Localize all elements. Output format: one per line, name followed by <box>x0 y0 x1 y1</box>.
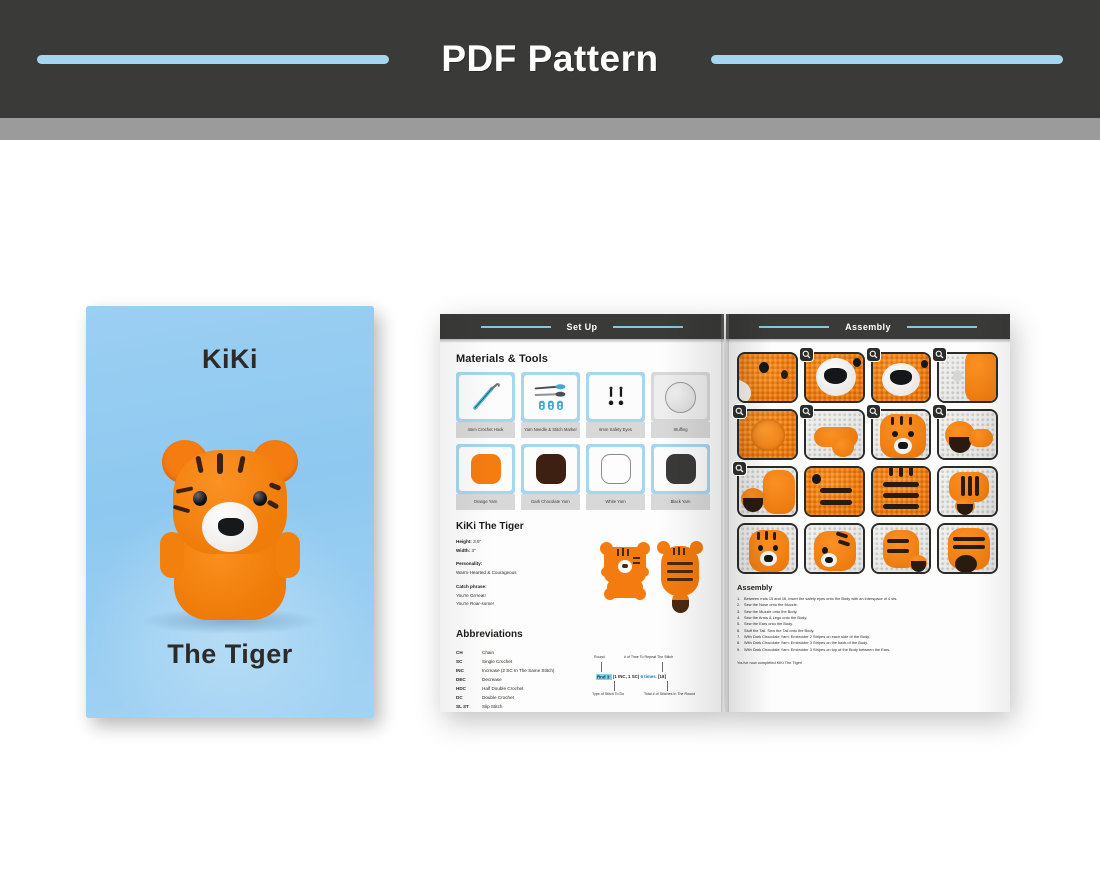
cover-subtitle: The Tiger <box>86 639 374 670</box>
right-header-rule-left <box>759 326 829 328</box>
plush-nose <box>218 518 244 536</box>
left-page-body: Materials & Tools 4mm Crochet Hook <box>440 343 724 712</box>
material-label: White Yarn <box>586 494 645 510</box>
assembly-photo-ear-detail[interactable] <box>937 352 998 403</box>
cover-book[interactable]: KiKi The Tiger <box>86 306 374 718</box>
banner-rule-right <box>711 55 1063 64</box>
magnifier-icon <box>869 350 878 359</box>
photo-stripe-blob <box>891 417 894 425</box>
abbreviations-section: CHChain SCSingle Crochet INCIncrease (2 … <box>456 649 710 712</box>
photo-eye-blob <box>812 474 821 484</box>
right-page-header: Assembly <box>726 314 1010 339</box>
material-frame <box>456 372 515 422</box>
magnifier-icon <box>802 407 811 416</box>
photo-image <box>939 468 996 515</box>
abbr-value: Slip Stitch <box>482 703 502 712</box>
crochet-tiger-plush-photo <box>164 436 296 626</box>
spec-width-value: 3" <box>472 548 476 553</box>
personality-value: Warm-Hearted & Courageous <box>456 569 584 578</box>
material-frame <box>521 444 580 494</box>
tiger-front-illustration <box>600 540 650 606</box>
catchphrase-2: You're Roar-some! <box>456 600 584 609</box>
left-header-rule-right <box>613 326 683 328</box>
photo-stripe-blob <box>883 493 919 498</box>
legend-round-label: Round <box>594 655 605 659</box>
right-page[interactable]: Assembly <box>726 314 1010 712</box>
legend-total-label: Total # of Stitches In The Round <box>644 692 695 696</box>
abbreviation-row: CHChain <box>456 649 584 658</box>
abbr-key: HDC <box>456 685 482 694</box>
materials-grid: 4mm Crochet Hook <box>456 372 710 510</box>
plush-head-stripe-4 <box>269 482 282 491</box>
photo-stripe-blob <box>887 539 909 543</box>
spec-personality: Personality: Warm-Hearted & Courageous <box>456 560 584 577</box>
photo-stripe-blob <box>820 500 852 505</box>
right-page-body: Assembly 1.Between rnds 15 and 16, inser… <box>726 343 1010 665</box>
material-frame <box>586 444 645 494</box>
pattern-spread[interactable]: Set Up Materials & Tools 4mm Crochet H <box>440 314 1010 712</box>
legend-repeat-label: # of Time To Repeat The Stitch <box>624 655 673 659</box>
assembly-photo-finished-front[interactable] <box>737 523 798 574</box>
photo-image <box>939 411 996 458</box>
abbr-value: Decrease <box>482 676 502 685</box>
material-label: Black Yarn <box>651 494 710 510</box>
assembly-step-text: With Dark Chocolate Yarn: Embroider 3 St… <box>744 647 890 653</box>
material-card[interactable]: 4mm Crochet Hook <box>456 372 515 438</box>
plush-head-stripe-2 <box>217 453 223 474</box>
spec-height: Height: 3.5" <box>456 538 584 547</box>
assembly-photo-face-complete[interactable] <box>871 409 932 460</box>
photo-stripe-blob <box>961 476 965 496</box>
material-label: 4mm Crochet Hook <box>456 422 515 438</box>
material-icon-box <box>654 447 707 491</box>
photo-nose-blob <box>890 370 912 385</box>
photo-stripe-blob <box>909 417 912 425</box>
photo-image <box>873 525 930 572</box>
spec-height-value: 3.5" <box>473 539 481 544</box>
assembly-photo-body-eyes[interactable] <box>737 352 798 403</box>
legend-code-example: Rnd 3: (1 INC, 1 SC) 6 times. [18] <box>596 674 666 679</box>
photo-stripe-blob <box>820 488 852 493</box>
abbr-key: SC <box>456 658 482 667</box>
zoom-badge[interactable] <box>732 461 747 476</box>
assembly-photo-tail-piece[interactable] <box>937 409 998 460</box>
material-frame <box>651 372 710 422</box>
assembly-photo-tail-attached[interactable] <box>737 466 798 517</box>
photo-eye-blob <box>758 545 763 551</box>
photo-eye-blob <box>921 360 928 368</box>
material-icon-box <box>589 375 642 419</box>
photo-stripe-blob <box>953 537 985 541</box>
character-specs: Height: 3.5" Width: 3" Personality: Warm… <box>456 538 584 618</box>
cover-title: KiKi <box>86 344 374 375</box>
photo-body-blob <box>763 470 795 514</box>
zoom-badge[interactable] <box>799 404 814 419</box>
book-gutter <box>721 314 729 712</box>
assembly-photo-muzzle-nose-sewn[interactable] <box>871 352 932 403</box>
catchphrase-1: You're Grrreat! <box>456 592 584 601</box>
material-frame <box>456 444 515 494</box>
legend-code-times: 6 times. <box>641 674 657 679</box>
photo-image <box>739 354 796 401</box>
zoom-badge[interactable] <box>932 347 947 362</box>
legend-stitch-type-label: Type of Stitch To Do <box>592 692 624 696</box>
spec-dimensions: Height: 3.5" Width: 3" <box>456 538 584 555</box>
material-label: Orange Yarn <box>456 494 515 510</box>
spec-height-label: Height: <box>456 539 472 544</box>
plush-arm-left <box>160 532 184 578</box>
photo-stripe-blob <box>773 532 776 540</box>
photo-stripe-blob <box>887 549 909 553</box>
assembly-photo-finished-back[interactable] <box>937 523 998 574</box>
abbreviations-list: CHChain SCSingle Crochet INCIncrease (2 … <box>456 649 584 712</box>
photo-image <box>939 525 996 572</box>
legend-code-stitches: (1 INC, 1 SC) <box>613 674 639 679</box>
photo-stripe-blob <box>765 531 768 540</box>
abbr-key: SL ST <box>456 703 482 712</box>
photo-eye-blob <box>908 431 914 437</box>
photo-eye-blob <box>773 545 778 551</box>
yarn-swatch-icon <box>601 454 631 484</box>
assembly-photo-back-stripes[interactable] <box>871 466 932 517</box>
material-label: Stuffing <box>651 422 710 438</box>
abbr-value: Double Crochet <box>482 694 514 703</box>
yarn-swatch-icon <box>666 454 696 484</box>
material-label: Dark Chocolate Yarn <box>521 494 580 510</box>
abbr-value: Single Crochet <box>482 658 512 667</box>
plush-head-stripe-5 <box>267 499 280 509</box>
abbr-value: Half Double Crochet <box>482 685 523 694</box>
character-illustrations <box>592 538 710 618</box>
magnifier-icon <box>935 350 944 359</box>
material-card[interactable]: Dark Chocolate Yarn <box>521 444 580 510</box>
assembly-photo-finished-angle[interactable] <box>804 523 865 574</box>
assembly-step: 9.With Dark Chocolate Yarn: Embroider 3 … <box>737 647 998 653</box>
magnifier-icon <box>802 350 811 359</box>
material-card[interactable]: Orange Yarn <box>456 444 515 510</box>
material-card[interactable]: 6mm Safety Eyes <box>586 372 645 438</box>
left-header-rule-left <box>481 326 551 328</box>
abbr-value: Increase (2 SC In The Same Stitch) <box>482 667 554 676</box>
photo-stripe-blob <box>781 370 788 379</box>
plush-head-stripe-1 <box>195 456 203 474</box>
left-header-title: Set Up <box>567 322 598 332</box>
zoom-badge[interactable] <box>732 404 747 419</box>
magnifier-icon <box>869 407 878 416</box>
assembly-photo-side-stripes[interactable] <box>804 466 865 517</box>
plush-whisker-left-1 <box>176 486 193 493</box>
abbr-key: DEC <box>456 676 482 685</box>
yarn-needle-stitch-marker-icon <box>532 381 569 414</box>
photo-nose-blob <box>825 557 833 563</box>
banner-title: PDF Pattern <box>441 38 658 80</box>
photo-stripe-blob <box>757 532 760 540</box>
abbreviation-row: HDCHalf Double Crochet <box>456 685 584 694</box>
photo-image <box>939 354 996 401</box>
photo-image <box>873 468 930 515</box>
character-heading: KiKi The Tiger <box>456 521 710 532</box>
photo-stripe-blob <box>968 476 972 496</box>
catchphrase-label: Catch phrase: <box>456 584 487 589</box>
spec-width-label: Width: <box>456 548 470 553</box>
photo-image <box>873 354 930 401</box>
magnifier-icon <box>935 407 944 416</box>
material-frame <box>651 444 710 494</box>
material-card[interactable]: White Yarn <box>586 444 645 510</box>
abbreviations-heading: Abbreviations <box>456 629 710 640</box>
assembly-heading: Assembly <box>737 583 998 592</box>
stuffing-icon <box>665 382 696 413</box>
abbr-key: DC <box>456 694 482 703</box>
material-label: Yarn Needle & Stitch Marker <box>521 422 580 438</box>
spec-width: Width: 3" <box>456 547 584 556</box>
photo-stripe-blob <box>883 482 919 487</box>
left-page-header: Set Up <box>440 314 724 339</box>
photo-image <box>806 354 863 401</box>
material-icon-box <box>654 375 707 419</box>
photo-image <box>739 411 796 458</box>
material-frame <box>521 372 580 422</box>
assembly-photo-muzzle-on-body[interactable] <box>737 409 798 460</box>
photo-stripe-blob <box>900 416 903 425</box>
legend-code-round: Rnd 3: <box>596 674 612 680</box>
legend-code-total: [18] <box>658 674 666 679</box>
plush-whisker-left-2 <box>173 505 190 514</box>
assembly-photo-finished-side[interactable] <box>871 523 932 574</box>
zoom-badge[interactable] <box>799 347 814 362</box>
assembly-photo-muzzle-nose-front[interactable] <box>804 352 865 403</box>
photo-stripe-blob <box>953 545 985 549</box>
character-info-row: Height: 3.5" Width: 3" Personality: Warm… <box>456 538 710 618</box>
plush-head-stripe-3 <box>237 456 245 474</box>
assembly-steps-list: 1.Between rnds 15 and 16, insert the saf… <box>737 596 998 653</box>
photo-stripe-blob <box>909 468 913 476</box>
plush-eye-left <box>193 491 207 506</box>
plush-arm-right <box>276 532 300 578</box>
material-icon-box <box>459 447 512 491</box>
assembly-completed-note: You've now completed KiKi The Tiger! <box>737 660 998 665</box>
photo-image <box>806 411 863 458</box>
safety-eyes-icon <box>603 386 629 409</box>
abbreviation-row: DCDouble Crochet <box>456 694 584 703</box>
assembly-photo-top-stripes[interactable] <box>937 466 998 517</box>
banner-rule-left <box>37 55 389 64</box>
spec-catchphrase: Catch phrase: You're Grrreat! You're Roa… <box>456 583 584 609</box>
zoom-badge[interactable] <box>932 404 947 419</box>
personality-label: Personality: <box>456 561 482 566</box>
photo-eye-blob <box>892 431 898 437</box>
photo-tail-body-blob <box>969 429 993 447</box>
photo-tail-tip-blob <box>955 555 977 572</box>
plush-eye-right <box>253 491 267 506</box>
crochet-hook-icon <box>469 380 503 414</box>
tiger-back-illustration <box>657 540 703 618</box>
assembly-photo-grid <box>737 352 998 574</box>
abbr-value: Chain <box>482 649 494 658</box>
abbreviation-row: SCSingle Crochet <box>456 658 584 667</box>
photo-muzzle-blob <box>751 419 785 451</box>
material-icon-box <box>459 375 512 419</box>
magnifier-icon <box>735 407 744 416</box>
right-header-rule-right <box>907 326 977 328</box>
material-icon-box <box>589 447 642 491</box>
abbreviation-row: INCIncrease (2 SC In The Same Stitch) <box>456 667 584 676</box>
photo-stripe-blob <box>889 468 893 476</box>
photo-nose-blob <box>764 555 773 562</box>
photo-ear-blob <box>965 354 996 401</box>
right-header-title: Assembly <box>845 322 891 332</box>
assembly-photo-arms-legs[interactable] <box>804 409 865 460</box>
zoom-badge[interactable] <box>866 404 881 419</box>
photo-eye-blob <box>759 362 769 373</box>
photo-image <box>739 525 796 572</box>
abbr-key: INC <box>456 667 482 676</box>
photo-image <box>873 411 930 458</box>
material-frame <box>586 372 645 422</box>
photo-stripe-blob <box>883 504 919 509</box>
material-card[interactable]: Yarn Needle & Stitch Marker <box>521 372 580 438</box>
photo-image <box>806 468 863 515</box>
stitch-notation-legend: Round # of Time To Repeat The Stitch Rnd… <box>590 649 710 711</box>
photo-nose-blob <box>898 442 908 449</box>
zoom-badge[interactable] <box>866 347 881 362</box>
material-label: 6mm Safety Eyes <box>586 422 645 438</box>
photo-eye-blob <box>853 358 861 367</box>
material-card[interactable]: Black Yarn <box>651 444 710 510</box>
photo-stripe-blob <box>975 476 979 496</box>
left-page[interactable]: Set Up Materials & Tools 4mm Crochet H <box>440 314 724 712</box>
abbreviation-row: SL STSlip Stitch <box>456 703 584 712</box>
material-card[interactable]: Stuffing <box>651 372 710 438</box>
page-banner: PDF Pattern <box>0 0 1100 118</box>
photo-limb-blob <box>832 437 854 457</box>
yarn-swatch-icon <box>536 454 566 484</box>
yarn-swatch-icon <box>471 454 501 484</box>
materials-heading: Materials & Tools <box>456 353 710 365</box>
photo-image <box>739 468 796 515</box>
photo-stripe-blob <box>899 468 903 477</box>
banner-divider-strip <box>0 118 1100 140</box>
abbreviation-row: DECDecrease <box>456 676 584 685</box>
photo-image <box>806 525 863 572</box>
abbr-key: CH <box>456 649 482 658</box>
magnifier-icon <box>735 464 744 473</box>
photo-nose-blob <box>824 368 847 384</box>
material-icon-box <box>524 375 577 419</box>
material-icon-box <box>524 447 577 491</box>
photo-body-blob <box>814 531 856 571</box>
